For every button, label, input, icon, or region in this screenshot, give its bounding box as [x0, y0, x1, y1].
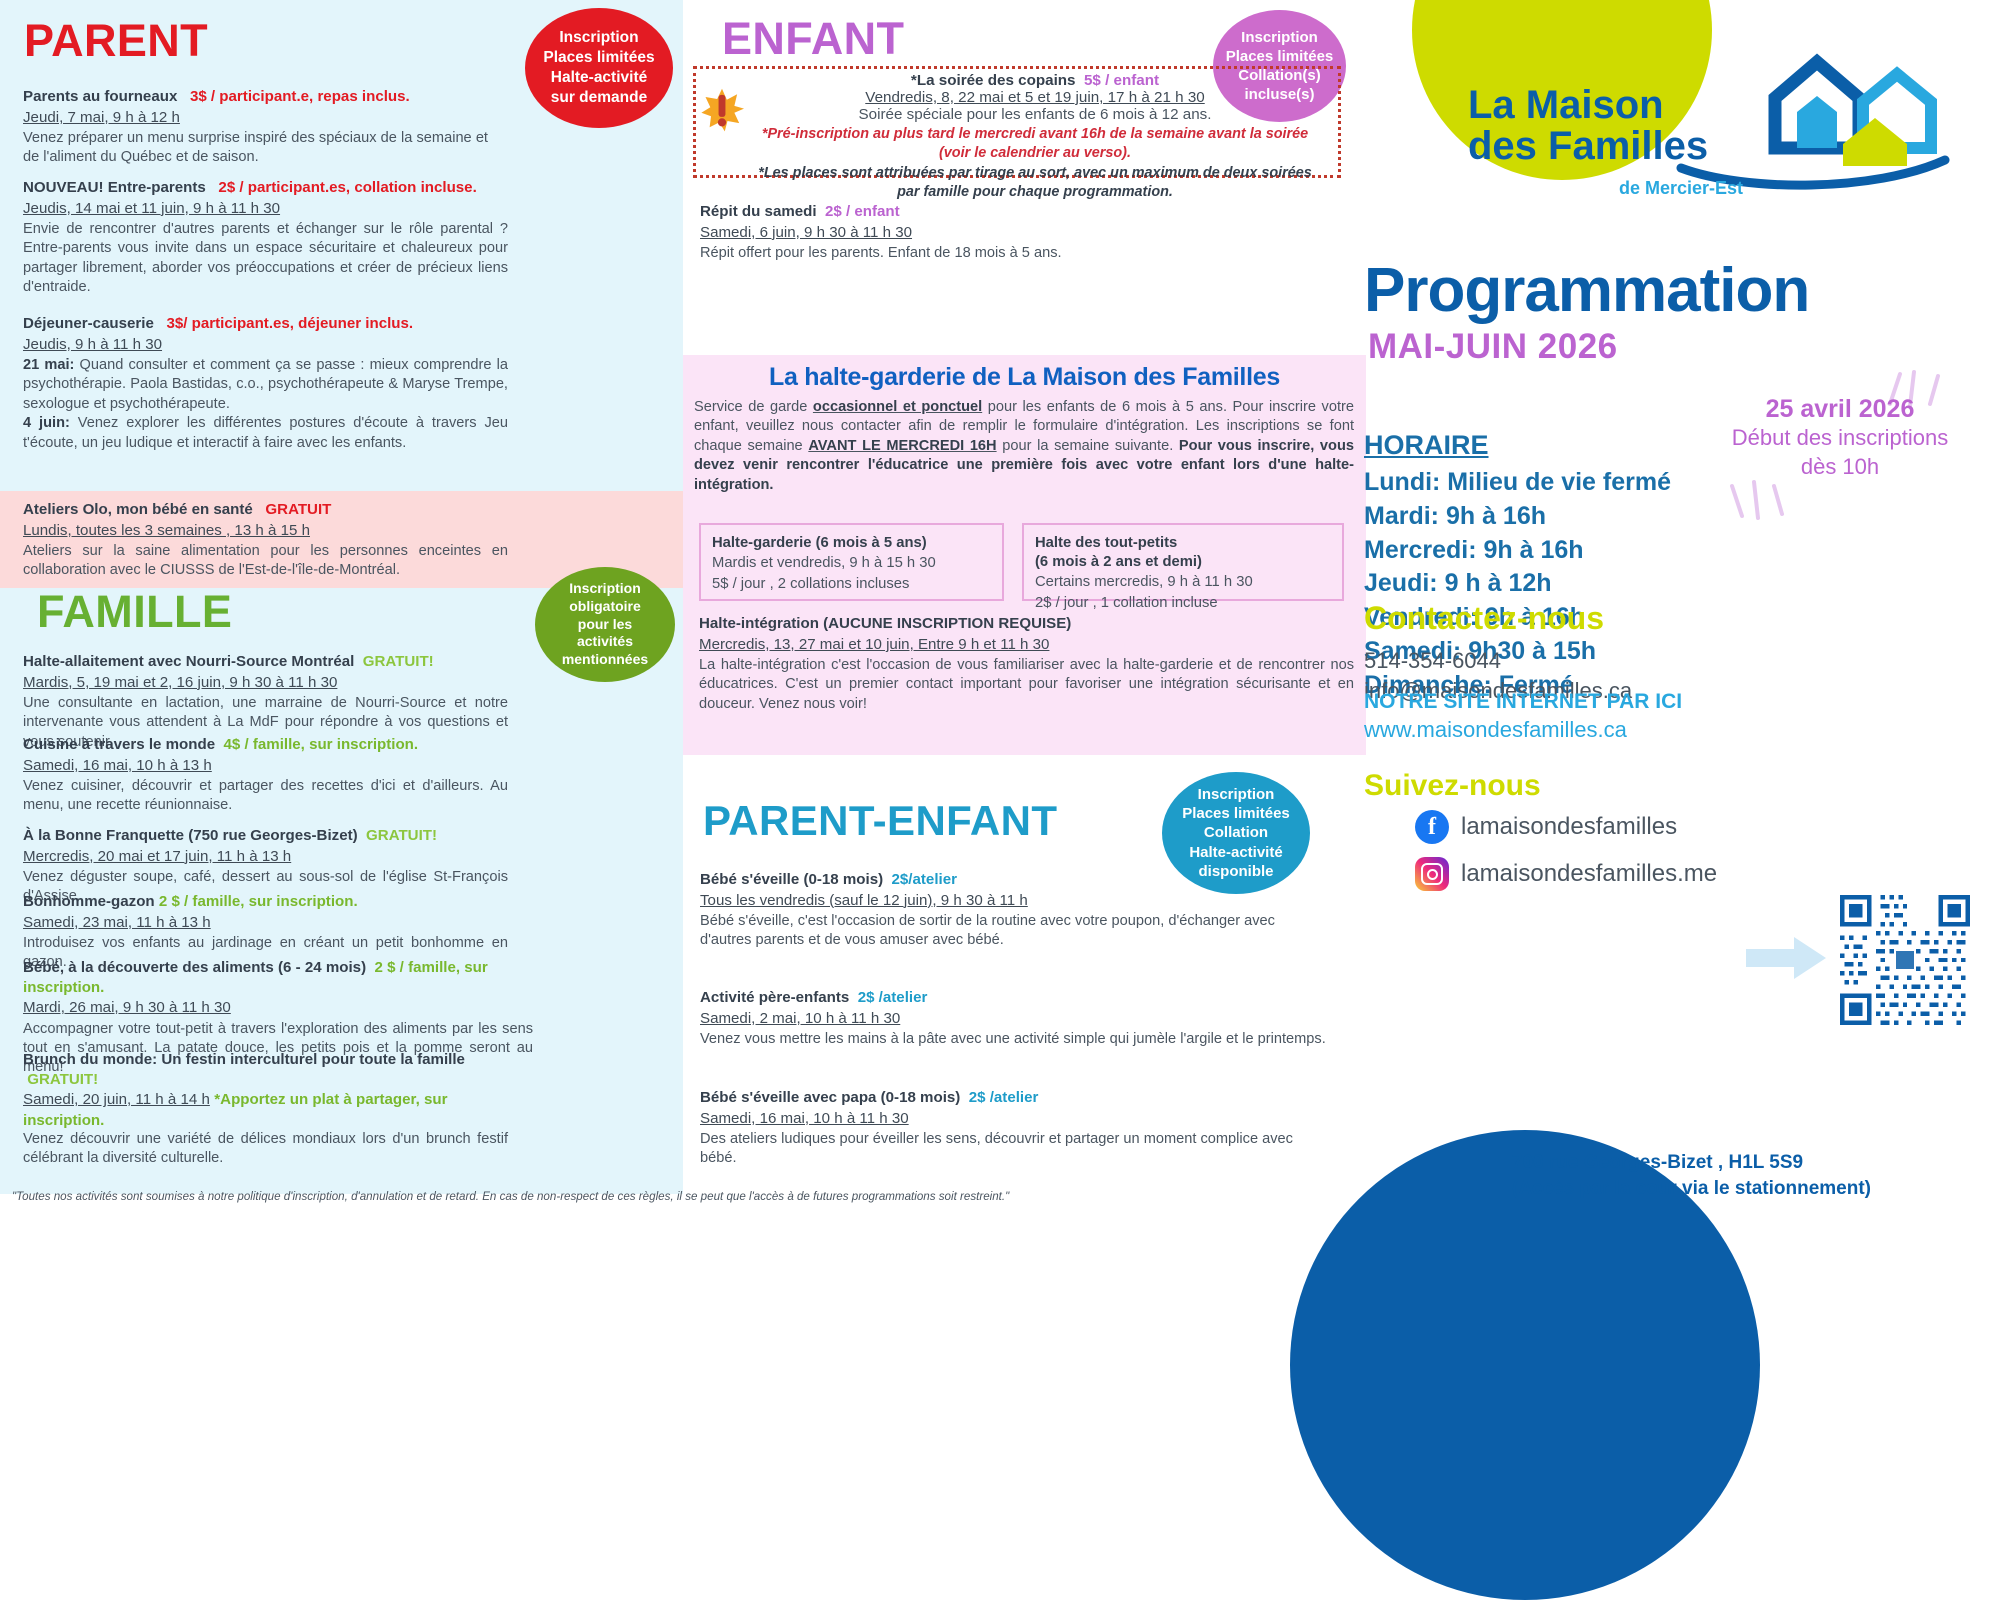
badge-enfant-line-1: Inscription	[1241, 28, 1318, 47]
halte-tout-petits-box-age: (6 mois à 2 ans et demi)	[1035, 553, 1331, 572]
address-line-2: (Accès par la cour via le stationnement)	[1512, 1176, 1871, 1202]
halte-tout-petits-box-price: 2$ / jour , 1 collation incluse	[1035, 593, 1331, 613]
halte-intro-underline-mercredi: AVANT LE MERCREDI 16H	[808, 438, 996, 454]
facebook-icon: f	[1415, 810, 1449, 844]
activity-title: Répit du samedi	[700, 203, 817, 220]
activity-title: NOUVEAU! Entre-parents	[23, 179, 206, 196]
horaire-day-mercredi: Mercredi: 9h à 16h	[1364, 534, 1671, 568]
activity-date: Samedi, 16 mai, 10 h à 13 h	[23, 756, 508, 776]
activity-dejeuner-causerie: Déjeuner-causerie 3$/ participant.es, dé…	[23, 314, 508, 453]
activity-title-row: Bonhomme-gazon 2 $ / famille, sur inscri…	[23, 892, 508, 912]
qr-code[interactable]	[1840, 895, 1970, 1025]
badge-famille-line-4: activités	[577, 633, 633, 651]
registration-date: 25 avril 2026	[1690, 395, 1990, 424]
instagram-icon	[1415, 857, 1449, 891]
activity-date: Samedi, 16 mai, 10 h à 11 h 30	[700, 1109, 1328, 1129]
horaire-day-lundi: Lundi: Milieu de vie fermé	[1364, 466, 1671, 500]
activity-date: Samedi, 2 mai, 10 h à 11 h 30	[700, 1009, 1328, 1029]
activity-price: 4$ / famille, sur inscription.	[224, 736, 419, 753]
activity-title-row: Bébé s'éveille avec papa (0-18 mois) 2$ …	[700, 1088, 1328, 1108]
activity-date: Lundis, toutes les 3 semaines , 13 h à 1…	[23, 521, 508, 541]
activity-title: Déjeuner-causerie	[23, 315, 154, 332]
warning-burst-icon	[700, 88, 744, 132]
activity-title: Bonhomme-gazon	[23, 893, 155, 910]
badge-pe-line-4: Halte-activité	[1189, 843, 1282, 862]
activity-title: Activité père-enfants	[700, 989, 849, 1006]
activity-date: Jeudi, 7 mai, 9 h à 12 h	[23, 108, 488, 128]
badge-famille-line-5: mentionnées	[562, 651, 648, 669]
soiree-title: *La soirée des copains	[911, 72, 1076, 89]
activity-ateliers-olo: Ateliers Olo, mon bébé en santé GRATUIT …	[23, 500, 508, 581]
activity-date: Mardis, 5, 19 mai et 2, 16 juin, 9 h 30 …	[23, 673, 508, 693]
activity-title: Bébé, à la découverte des aliments (6 - …	[23, 959, 366, 976]
activity-price: GRATUIT!	[27, 1071, 98, 1088]
activity-title-row: Bébé s'éveille (0-18 mois) 2$/atelier	[700, 870, 1328, 890]
halte-tout-petits-info-box: Halte des tout-petits (6 mois à 2 ans et…	[1022, 523, 1344, 601]
registration-note-line-2: dès 10h	[1690, 453, 1990, 482]
activity-title-row: Parents au fourneaux 3$ / participant.e,…	[23, 87, 488, 107]
activity-title-row: Ateliers Olo, mon bébé en santé GRATUIT	[23, 500, 508, 520]
logo-subtitle: de Mercier-Est	[1619, 178, 1743, 199]
activity-title: Brunch du monde: Un festin interculturel…	[23, 1051, 465, 1068]
activity-body: Venez vous mettre les mains à la pâte av…	[700, 1030, 1328, 1049]
soiree-note-preinscription: *Pré-inscription au plus tard le mercred…	[755, 125, 1315, 162]
policy-disclaimer: "Toutes nos activités sont soumises à no…	[12, 1190, 1212, 1203]
activity-repit-du-samedi: Répit du samedi 2$ / enfant Samedi, 6 ju…	[700, 202, 1320, 263]
activity-title-row: Activité père-enfants 2$ /atelier	[700, 988, 1328, 1008]
activity-date: Jeudis, 9 h à 11 h 30	[23, 335, 508, 355]
badge-enfant-line-2: Places limitées	[1226, 47, 1334, 66]
halte-tout-petits-box-title: Halte des tout-petits	[1035, 534, 1331, 553]
soiree-des-copains-content: *La soirée des copains 5$ / enfant Vendr…	[755, 72, 1315, 202]
arrow-right-icon	[1746, 935, 1826, 981]
activity-title-row: À la Bonne Franquette (750 rue Georges-B…	[23, 826, 508, 846]
halte-garderie-box-title: Halte-garderie (6 mois à 5 ans)	[712, 534, 991, 553]
horaire-heading: HORAIRE	[1364, 430, 1489, 461]
soiree-date: Vendredis, 8, 22 mai et 5 et 19 juin, 17…	[755, 89, 1315, 106]
activity-body-may-label: 21 mai:	[23, 357, 74, 373]
halte-tout-petits-box-schedule: Certains mercredis, 9 h à 11 h 30	[1035, 572, 1331, 592]
soiree-desc: Soirée spéciale pour les enfants de 6 mo…	[755, 106, 1315, 123]
activity-price: 2$ /atelier	[969, 1089, 1039, 1106]
activity-brunch-du-monde: Brunch du monde: Un festin interculturel…	[23, 1050, 508, 1168]
section-heading-parent-enfant: PARENT-ENFANT	[703, 800, 1057, 842]
badge-pe-line-2: Places limitées	[1182, 804, 1290, 823]
activity-body: Ateliers sur la saine alimentation pour …	[23, 542, 508, 581]
badge-parent-line-4: sur demande	[551, 88, 647, 108]
brochure-page: PARENT Inscription Places limitées Halte…	[0, 0, 2000, 1214]
activity-bebe-seveille: Bébé s'éveille (0-18 mois) 2$/atelier To…	[700, 870, 1328, 951]
page-title: Programmation	[1364, 255, 1809, 326]
badge-parent-line-3: Halte-activité	[551, 68, 647, 88]
activity-price: GRATUIT!	[366, 827, 437, 844]
badge-famille-line-2: obligatoire	[569, 598, 641, 616]
halte-integration-date: Mercredis, 13, 27 mai et 10 juin, Entre …	[699, 636, 1049, 653]
halte-intro-4: pour la semaine suivante.	[997, 438, 1179, 454]
badge-parent-inscription: Inscription Places limitées Halte-activi…	[525, 8, 673, 128]
halte-garderie-title: La halte-garderie de La Maison des Famil…	[683, 363, 1366, 392]
activity-pere-enfants: Activité père-enfants 2$ /atelier Samedi…	[700, 988, 1328, 1049]
registration-note-line-1: Début des inscriptions	[1690, 424, 1990, 453]
soiree-note-tirage: *Les places sont attribuées par tirage a…	[755, 164, 1315, 201]
activity-price: GRATUIT	[265, 501, 331, 518]
address-block: 700 rue Georges-Bizet , H1L 5S9 (Accès p…	[1512, 1150, 1871, 1201]
contact-heading: Contactez-nous	[1364, 600, 1604, 637]
activity-price: 3$ / participant.e, repas inclus.	[190, 88, 410, 105]
activity-body-may: 21 mai: Quand consulter et comment ça se…	[23, 356, 508, 414]
activity-date: Mardi, 26 mai, 9 h 30 à 11 h 30	[23, 998, 533, 1018]
badge-famille-line-1: Inscription	[569, 580, 641, 598]
activity-title-row: Cuisine à travers le monde 4$ / famille,…	[23, 735, 508, 755]
activity-body: Venez découvrir une variété de délices m…	[23, 1130, 508, 1169]
activity-title: Parents au fourneaux	[23, 88, 177, 105]
social-facebook[interactable]: f lamaisondesfamilles	[1415, 810, 1677, 844]
activity-title: Ateliers Olo, mon bébé en santé	[23, 501, 253, 518]
activity-date: Tous les vendredis (sauf le 12 juin), 9 …	[700, 891, 1328, 911]
halte-intro-underline-occasionnel: occasionnel et ponctuel	[813, 399, 982, 415]
activity-bebe-seveille-papa: Bébé s'éveille avec papa (0-18 mois) 2$ …	[700, 1088, 1328, 1169]
badge-pe-line-1: Inscription	[1198, 785, 1275, 804]
badge-famille-inscription: Inscription obligatoire pour les activit…	[535, 567, 675, 682]
activity-title-row: Halte-allaitement avec Nourri-Source Mon…	[23, 652, 508, 672]
activity-title-row: Répit du samedi 2$ / enfant	[700, 202, 1320, 222]
instagram-handle: lamaisondesfamilles.me	[1461, 860, 1717, 888]
activity-title-row: NOUVEAU! Entre-parents 2$ / participant.…	[23, 178, 508, 198]
activity-title: À la Bonne Franquette (750 rue Georges-B…	[23, 827, 358, 844]
activity-date: Samedi, 20 juin, 11 h à 14 h	[23, 1090, 210, 1110]
activity-date: Samedi, 6 juin, 9 h 30 à 11 h 30	[700, 223, 1320, 243]
activity-title: Bébé s'éveille (0-18 mois)	[700, 871, 883, 888]
halte-integration-title: Halte-intégration (AUCUNE INSCRIPTION RE…	[699, 615, 1071, 632]
activity-body-may-text: Quand consulter et comment ça se passe :…	[23, 357, 508, 412]
activity-body: Répit offert pour les parents. Enfant de…	[700, 244, 1320, 263]
activity-body-june-label: 4 juin:	[23, 415, 70, 431]
website-url[interactable]: www.maisondesfamilles.ca	[1364, 717, 1627, 743]
activity-price: GRATUIT!	[363, 653, 434, 670]
halte-garderie-intro: Service de garde occasionnel et ponctuel…	[694, 398, 1354, 495]
activity-entre-parents: NOUVEAU! Entre-parents 2$ / participant.…	[23, 178, 508, 298]
activity-title: Halte-allaitement avec Nourri-Source Mon…	[23, 653, 354, 670]
follow-heading: Suivez-nous	[1364, 769, 1541, 803]
horaire-day-jeudi: Jeudi: 9 h à 12h	[1364, 567, 1671, 601]
address-line-1: 700 rue Georges-Bizet , H1L 5S9	[1512, 1150, 1871, 1176]
halte-garderie-info-box: Halte-garderie (6 mois à 5 ans) Mardis e…	[699, 523, 1004, 601]
soiree-price: 5$ / enfant	[1084, 72, 1159, 89]
activity-price: 2$ / participant.es, collation incluse.	[218, 179, 476, 196]
activity-price: 2$ / enfant	[825, 203, 900, 220]
social-instagram[interactable]: lamaisondesfamilles.me	[1415, 857, 1717, 891]
section-heading-enfant: ENFANT	[722, 16, 904, 61]
activity-date: Samedi, 23 mai, 11 h à 13 h	[23, 913, 508, 933]
badge-parent-line-1: Inscription	[559, 28, 638, 48]
logo-wordmark: La Maison des Familles	[1468, 85, 1708, 167]
badge-famille-line-3: pour les	[578, 616, 632, 634]
activity-date: Mercredis, 20 mai et 17 juin, 11 h à 13 …	[23, 847, 508, 867]
activity-body-june: 4 juin: Venez explorer les différentes p…	[23, 414, 508, 453]
section-heading-parent: PARENT	[24, 18, 208, 63]
activity-body: Venez préparer un menu surprise inspiré …	[23, 129, 488, 168]
activity-date: Jeudis, 14 mai et 11 juin, 9 h à 11 h 30	[23, 199, 508, 219]
activity-body: Envie de rencontrer d'autres parents et …	[23, 220, 508, 298]
horaire-day-mardi: Mardi: 9h à 16h	[1364, 500, 1671, 534]
activity-body: Venez cuisiner, découvrir et partager de…	[23, 777, 508, 816]
facebook-handle: lamaisondesfamilles	[1461, 813, 1677, 841]
activity-price: 2$/atelier	[892, 871, 957, 888]
badge-pe-line-3: Collation	[1204, 823, 1268, 842]
activity-title-row: Brunch du monde: Un festin interculturel…	[23, 1050, 508, 1089]
activity-title-row: Bébé, à la découverte des aliments (6 - …	[23, 958, 533, 997]
contact-phone[interactable]: 514-354-6044	[1364, 648, 1501, 674]
section-heading-famille: FAMILLE	[37, 589, 232, 634]
activity-title: Bébé s'éveille avec papa (0-18 mois)	[700, 1089, 960, 1106]
logo-line-2: des Familles	[1468, 126, 1708, 167]
activity-price: 2$ /atelier	[858, 989, 928, 1006]
halte-intro-1: Service de garde	[694, 399, 813, 415]
halte-garderie-box-price: 5$ / jour , 2 collations incluses	[712, 574, 991, 594]
halte-garderie-box-schedule: Mardis et vendredis, 9 h à 15 h 30	[712, 553, 991, 573]
website-label[interactable]: NOTRE SITE INTERNET PAR ICI	[1364, 690, 1682, 714]
soiree-title-row: *La soirée des copains 5$ / enfant	[755, 72, 1315, 89]
activity-price: 3$/ participant.es, déjeuner inclus.	[166, 315, 413, 332]
activity-body: Des ateliers ludiques pour éveiller les …	[700, 1130, 1328, 1169]
activity-title-row: Déjeuner-causerie 3$/ participant.es, dé…	[23, 314, 508, 334]
activity-body-june-text: Venez explorer les différentes postures …	[23, 415, 508, 450]
activity-cuisine-monde: Cuisine à travers le monde 4$ / famille,…	[23, 735, 508, 816]
halte-integration-body: La halte-intégration c'est l'occasion de…	[699, 656, 1354, 714]
badge-parent-line-2: Places limitées	[543, 48, 654, 68]
activity-title: Cuisine à travers le monde	[23, 736, 215, 753]
registration-start-note: 25 avril 2026 Début des inscriptions dès…	[1690, 395, 1990, 481]
activity-body: Bébé s'éveille, c'est l'occasion de sort…	[700, 912, 1328, 951]
logo-line-1: La Maison	[1468, 85, 1708, 126]
activity-parents-au-fourneaux: Parents au fourneaux 3$ / participant.e,…	[23, 87, 488, 168]
page-subtitle: MAI-JUIN 2026	[1368, 327, 1618, 367]
activity-price: 2 $ / famille, sur inscription.	[159, 893, 358, 910]
